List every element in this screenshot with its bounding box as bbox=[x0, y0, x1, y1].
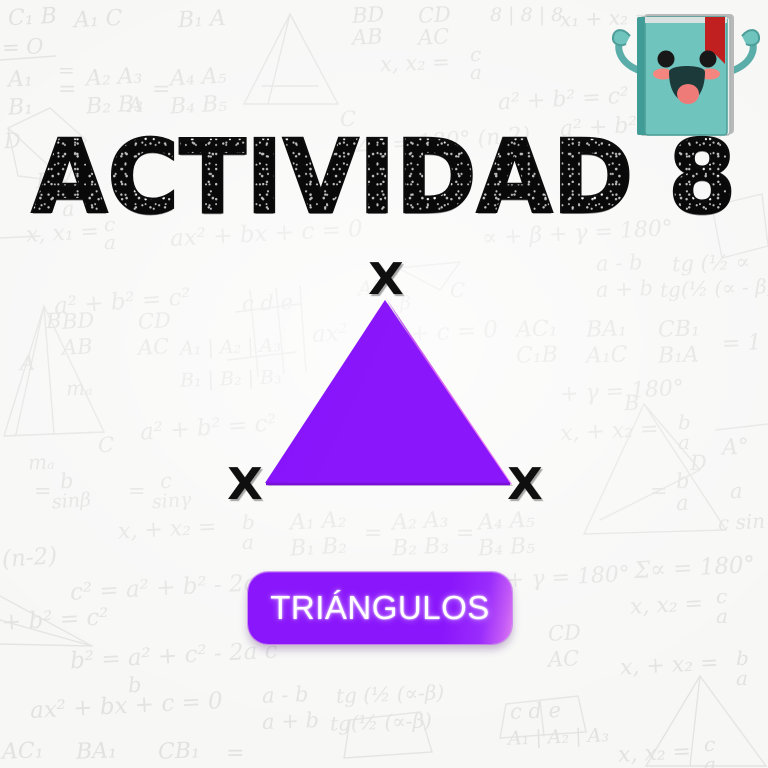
book-mascot-icon bbox=[604, 2, 768, 142]
mascot-right-eye bbox=[700, 51, 717, 68]
mascot-right-arm bbox=[734, 30, 759, 70]
vertex-marker-bottom-left: X bbox=[227, 463, 263, 507]
mascot-left-eye bbox=[658, 51, 675, 68]
mascot-tongue bbox=[677, 84, 699, 104]
triangulos-button-label: TRIÁNGULOS bbox=[270, 589, 490, 627]
triangulos-button[interactable]: TRIÁNGULOS bbox=[248, 572, 512, 644]
triangle-body bbox=[265, 300, 510, 483]
vertex-marker-apex: X bbox=[368, 258, 404, 302]
mascot-left-arm bbox=[613, 30, 638, 70]
activity-slide: x₁ + x₂ =BDCDABACA₁ CB₁ AC₁ B8 | 8 | 8x,… bbox=[0, 0, 768, 768]
vertex-marker-bottom-right: X bbox=[507, 463, 543, 507]
